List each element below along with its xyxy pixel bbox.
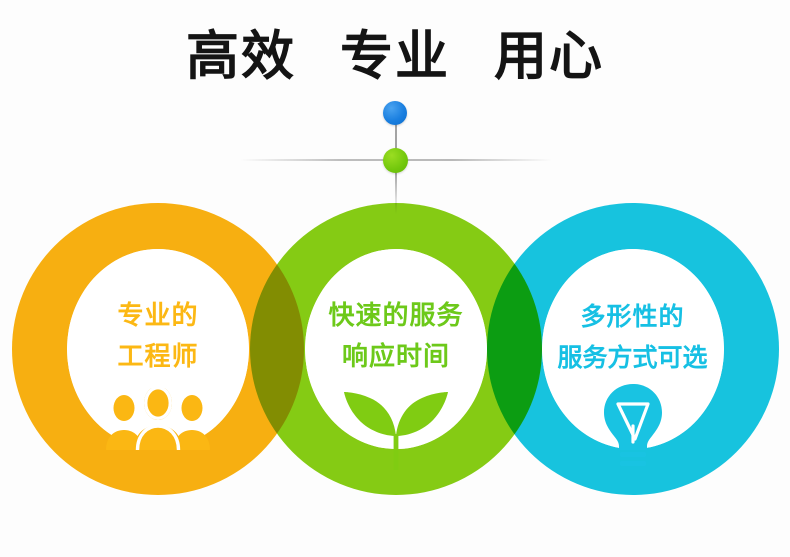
circle-label-orange-line-1: 专业的 bbox=[53, 296, 263, 337]
circle-label-cyan-line-2: 服务方式可选 bbox=[520, 337, 745, 378]
circle-label-cyan-line-1: 多形性的 bbox=[520, 296, 745, 337]
circle-label-green-line-2: 响应时间 bbox=[291, 337, 501, 378]
circle-label-green: 快速的服务 响应时间 bbox=[291, 296, 501, 378]
page-title-word-2: 专业 bbox=[340, 26, 450, 88]
page-title-word-3: 用心 bbox=[494, 26, 604, 88]
page-title-word-1: 高效 bbox=[186, 26, 296, 88]
poster-canvas: 高效专业用心 专业的 工程师 快速的服务 响应时间 多形性的 服务方式可选 bbox=[0, 0, 790, 557]
three-people-icon bbox=[103, 388, 213, 450]
circle-label-orange-line-2: 工程师 bbox=[53, 337, 263, 378]
circle-label-cyan: 多形性的 服务方式可选 bbox=[520, 296, 745, 378]
page-title: 高效专业用心 bbox=[0, 26, 790, 88]
circle-label-green-line-1: 快速的服务 bbox=[291, 296, 501, 337]
lightbulb-icon bbox=[596, 382, 670, 468]
circle-label-orange: 专业的 工程师 bbox=[53, 296, 263, 378]
blue-dot-marker-icon bbox=[383, 101, 407, 125]
sprout-leaf-icon bbox=[336, 386, 456, 470]
green-dot-marker-icon bbox=[383, 148, 408, 173]
